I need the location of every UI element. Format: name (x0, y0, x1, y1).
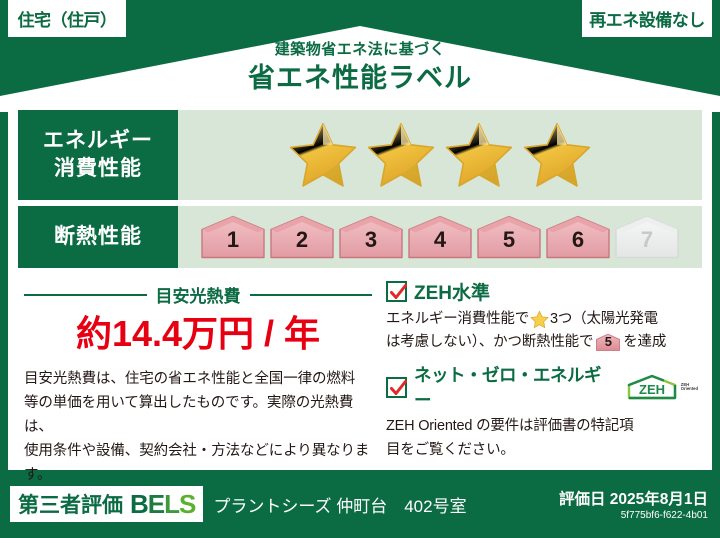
zeh-oriented-sublabel: ZEH Oriented (681, 383, 698, 393)
roof-gable-graphic (0, 26, 720, 112)
utility-cost-note-line2: 等の単価を用いて算出したものです。実際の光熱費は、 (24, 391, 372, 439)
insulation-level-house: 4 (407, 214, 473, 260)
net-zero-energy-checkbox[interactable] (386, 377, 407, 398)
bels-badge: 第三者評価 BELS (10, 486, 203, 522)
zeh-standard-title: ZEH水準 (414, 278, 490, 305)
insulation-performance-label-text: 断熱性能 (54, 223, 142, 251)
energy-performance-label-line1: エネルギー (43, 127, 153, 155)
zeh-standard-body: エネルギー消費性能で 3つ（太陽光発電 は考慮しない）、かつ断熱性能で (386, 308, 698, 354)
net-zero-energy-heading: ネット・ゼロ・エネルギー ZEH ZEH Oriented (386, 362, 698, 412)
zeh-standard-body-line2-b: を達成 (623, 331, 666, 354)
heading-rule-left (24, 294, 147, 296)
evaluation-info: 評価日 2025年8月1日 5f775bf6-f622-4b01 (559, 487, 708, 521)
insulation-level-house-number: 1 (200, 227, 266, 253)
utility-cost-panel: 目安光熱費 約14.4万円 / 年 目安光熱費は、住宅の省エネ性能と全国一律の燃… (20, 278, 376, 460)
zeh-oriented-logo: ZEH ZEH Oriented (623, 373, 698, 401)
zeh-standard-body-line2: は考慮しない）、かつ断熱性能で (386, 331, 698, 354)
star-icon (287, 120, 359, 190)
insulation-performance-label: 断熱性能 (18, 206, 178, 268)
insulation-level-house-number: 2 (269, 227, 335, 253)
energy-performance-label: エネルギー 消費性能 (18, 110, 178, 200)
net-zero-energy-body-line2: 目をご覧ください。 (386, 439, 698, 462)
heading-rule-right (250, 294, 373, 296)
insulation-level-scale: 1 2 3 4 (200, 214, 680, 260)
bels-letter-s: S (179, 489, 195, 519)
utility-cost-note: 目安光熱費は、住宅の省エネ性能と全国一律の燃料 等の単価を用いて算出したものです… (24, 367, 372, 487)
net-zero-energy-body-line1: ZEH Oriented の要件は評価書の特記項 (386, 415, 698, 438)
zeh-oriented-sublabel-line2: Oriented (681, 386, 698, 391)
net-zero-energy-title: ネット・ゼロ・エネルギー (414, 362, 616, 412)
insulation-level-house-number: 4 (407, 227, 473, 253)
zeh-standard-body-line1-b: 3つ（太陽光発電 (550, 308, 658, 331)
net-zero-energy-body: ZEH Oriented の要件は評価書の特記項 目をご覧ください。 (386, 415, 698, 461)
zeh-standard-checkbox[interactable] (386, 281, 407, 302)
evaluation-id: 5f775bf6-f622-4b01 (559, 510, 708, 521)
insulation-level-house: 3 (338, 214, 404, 260)
utility-cost-heading-text: 目安光熱費 (156, 282, 241, 307)
star-icon (521, 120, 593, 190)
utility-cost-amount: 約14.4万円 / 年 (24, 310, 372, 359)
insulation-level-badge: 5 (595, 333, 621, 352)
evaluation-date: 評価日 2025年8月1日 (559, 487, 708, 509)
zeh-standard-body-line1-a: エネルギー消費性能で (386, 308, 529, 331)
zeh-standard-body-line1: エネルギー消費性能で 3つ（太陽光発電 (386, 308, 698, 331)
utility-cost-note-line1: 目安光熱費は、住宅の省エネ性能と全国一律の燃料 (24, 367, 372, 391)
energy-performance-value (178, 110, 702, 200)
insulation-level-house: 7 (614, 214, 680, 260)
star-icon (365, 120, 437, 190)
zeh-standard-block: ZEH水準 エネルギー消費性能で 3つ（太陽光発電 は考慮しない）、かつ断熱性能… (386, 278, 698, 354)
star-icon (443, 120, 515, 190)
footer-bar: 第三者評価 BELS プラントシーズ 仲町台 402号室 評価日 2025年8月… (0, 470, 720, 538)
insulation-level-house: 1 (200, 214, 266, 260)
zeh-panel: ZEH水準 エネルギー消費性能で 3つ（太陽光発電 は考慮しない）、かつ断熱性能… (376, 278, 700, 460)
net-zero-energy-block: ネット・ゼロ・エネルギー ZEH ZEH Oriented (386, 362, 698, 461)
insulation-level-house: 2 (269, 214, 335, 260)
bels-letter-l: L (164, 489, 179, 519)
bels-letter-e: E (148, 489, 164, 519)
building-name: プラントシーズ 仲町台 402号室 (213, 492, 466, 517)
insulation-level-house-number: 3 (338, 227, 404, 253)
zeh-standard-heading: ZEH水準 (386, 278, 698, 305)
energy-star-rating (287, 120, 593, 190)
bels-badge-jp-label: 第三者評価 (18, 489, 123, 519)
svg-text:ZEH: ZEH (639, 382, 665, 397)
insulation-performance-value: 1 2 3 4 (178, 206, 702, 268)
insulation-level-house-number: 6 (545, 227, 611, 253)
zeh-standard-body-line2-a: は考慮しない）、かつ断熱性能で (386, 331, 593, 354)
energy-performance-label-line2: 消費性能 (54, 155, 142, 183)
utility-cost-heading: 目安光熱費 (24, 282, 372, 307)
insulation-level-house-number: 5 (476, 227, 542, 253)
insulation-level-house: 6 (545, 214, 611, 260)
insulation-level-badge-number: 5 (605, 332, 612, 353)
insulation-level-house-number: 7 (614, 227, 680, 253)
star-icon (530, 310, 549, 329)
energy-performance-row: エネルギー 消費性能 (18, 110, 702, 200)
bels-letter-b: B (130, 489, 148, 519)
label-body-card: エネルギー 消費性能 (8, 104, 712, 470)
insulation-performance-row: 断熱性能 1 2 (18, 206, 702, 268)
insulation-level-house: 5 (476, 214, 542, 260)
lower-section: 目安光熱費 約14.4万円 / 年 目安光熱費は、住宅の省エネ性能と全国一律の燃… (20, 278, 700, 460)
bels-badge-en-label: BELS (130, 489, 195, 520)
